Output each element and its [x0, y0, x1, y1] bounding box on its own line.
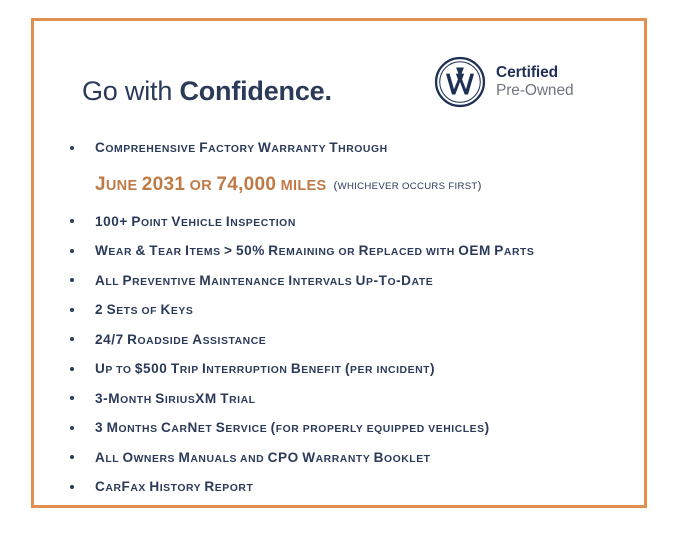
feature-text: 3 Months CarNet Service (for properly eq… — [95, 420, 490, 435]
certified-label: Certified — [496, 64, 574, 82]
vw-certified-preowned-lockup: Certified Pre-Owned — [434, 56, 574, 108]
feature-text: Up to $500 Trip Interruption Benefit (pe… — [95, 361, 435, 376]
feature-text: 3-Month SiriusXM Trial — [95, 391, 256, 406]
list-item: 100+ Point Vehicle Inspection — [34, 207, 644, 237]
list-item: 3-Month SiriusXM Trial — [34, 384, 644, 414]
feature-text: All Preventive Maintenance Intervals Up-… — [95, 273, 433, 288]
feature-text: 24/7 Roadside Assistance — [95, 332, 266, 347]
bullet-icon — [70, 426, 74, 430]
feature-text: 100+ Point Vehicle Inspection — [95, 214, 296, 229]
list-item: 3 Months CarNet Service (for properly eq… — [34, 413, 644, 443]
headline-light-part: Go with — [82, 76, 179, 106]
cpo-benefits-card: Go with Confidence. Certified Pre-Owned … — [31, 18, 647, 508]
warranty-highlight-row: June 2031 or 74,000 miles (whichever occ… — [34, 163, 644, 207]
list-item: 2 Sets of Keys — [34, 295, 644, 325]
feature-text: CarFax History Report — [95, 479, 253, 494]
card-header: Go with Confidence. Certified Pre-Owned — [34, 21, 644, 126]
bullet-icon — [70, 455, 74, 459]
bullet-icon — [70, 249, 74, 253]
bullet-icon — [70, 219, 74, 223]
list-item: All Preventive Maintenance Intervals Up-… — [34, 266, 644, 296]
list-item: 24/7 Roadside Assistance — [34, 325, 644, 355]
pre-owned-label: Pre-Owned — [496, 82, 574, 100]
bullet-icon — [70, 367, 74, 371]
list-item: Wear & Tear Items > 50% Remaining or Rep… — [34, 236, 644, 266]
feature-text: 2 Sets of Keys — [95, 302, 193, 317]
bullet-icon — [70, 337, 74, 341]
list-item: All Owners Manuals and CPO Warranty Book… — [34, 443, 644, 473]
bullet-icon — [70, 308, 74, 312]
features-list: Comprehensive Factory Warranty Through J… — [34, 133, 644, 502]
headline-bold-part: Confidence. — [179, 76, 331, 106]
feature-text: Wear & Tear Items > 50% Remaining or Rep… — [95, 243, 534, 258]
bullet-icon — [70, 278, 74, 282]
bullet-icon — [70, 396, 74, 400]
cpo-wordmark: Certified Pre-Owned — [496, 64, 574, 101]
feature-text: Comprehensive Factory Warranty Through — [95, 140, 388, 155]
list-item: Up to $500 Trip Interruption Benefit (pe… — [34, 354, 644, 384]
bullet-icon — [70, 485, 74, 489]
vw-roundel-icon — [434, 56, 486, 108]
page-title: Go with Confidence. — [82, 75, 332, 107]
warranty-note: (whichever occurs first) — [334, 180, 482, 192]
warranty-term: June 2031 or 74,000 miles — [95, 174, 327, 196]
list-item: Comprehensive Factory Warranty Through — [34, 133, 644, 163]
feature-text: All Owners Manuals and CPO Warranty Book… — [95, 450, 431, 465]
list-item: CarFax History Report — [34, 472, 644, 502]
bullet-icon — [70, 146, 74, 150]
